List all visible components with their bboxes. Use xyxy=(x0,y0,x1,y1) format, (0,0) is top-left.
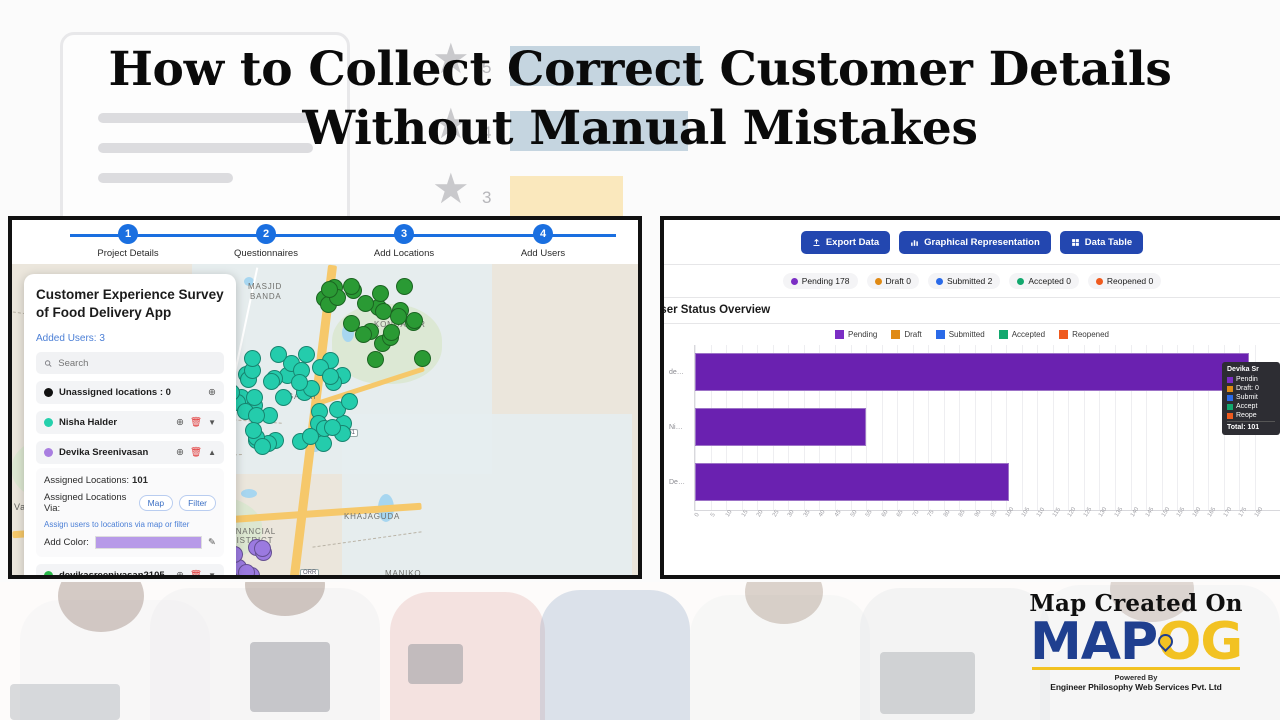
chart-bar-row: Ni… xyxy=(695,400,1280,455)
tooltip-label: Draft: 0 xyxy=(1236,385,1259,392)
chart-x-tick: 10 xyxy=(725,509,734,518)
added-users-label: Added Users: xyxy=(36,333,97,344)
data-table-button[interactable]: Data Table xyxy=(1060,231,1143,254)
user-color-dot xyxy=(44,571,53,579)
road-badge: ORR xyxy=(300,569,319,577)
chart-x-tick: 15 xyxy=(741,509,750,518)
map-place-label: Khanapur xyxy=(59,576,104,579)
mapog-logo: MAPOG xyxy=(1010,618,1262,667)
chart-plot-area: de… Ni… De… xyxy=(694,345,1280,510)
added-users-count: 3 xyxy=(99,333,105,344)
chart-legend-swatch xyxy=(936,330,945,339)
map-marker[interactable] xyxy=(245,422,262,439)
chart-legend-label: Pending xyxy=(848,330,877,339)
added-users: Added Users: 3 xyxy=(36,333,224,344)
chevron-down-icon[interactable]: ▼ xyxy=(208,419,216,427)
status-dot xyxy=(875,278,882,285)
stepper-label: Add Locations xyxy=(344,248,464,259)
map-place-label: KHAJAGUDA xyxy=(344,512,400,521)
map-marker[interactable] xyxy=(396,278,413,295)
stepper-step-questionnaires[interactable]: 2 Questionnaires xyxy=(206,224,326,259)
chart-x-tick: 95 xyxy=(990,509,999,518)
tooltip-row: Reope xyxy=(1227,412,1275,419)
decorative-line xyxy=(98,173,233,183)
unassigned-locations-row[interactable]: Unassigned locations : 0 ⊕ xyxy=(36,381,224,404)
stepper-step-add-users[interactable]: 4 Add Users xyxy=(483,224,603,259)
survey-sidebar-card: Customer Experience Survey of Food Deliv… xyxy=(24,274,236,579)
company-name: Engineer Philosophy Web Services Pvt. Lt… xyxy=(1010,682,1262,692)
row-actions[interactable]: ⊕ 🗑 ▼ xyxy=(176,571,216,579)
zoom-to-icon[interactable]: ⊕ xyxy=(176,418,184,428)
user-name: Devika Sreenivasan xyxy=(59,447,170,458)
pencil-icon[interactable]: ✎ xyxy=(208,538,216,548)
color-swatch[interactable] xyxy=(95,536,202,549)
map-marker[interactable] xyxy=(321,281,338,298)
zoom-to-icon[interactable]: ⊕ xyxy=(208,388,216,398)
chart-y-tick: Ni… xyxy=(669,424,683,431)
status-chip-label: Pending 178 xyxy=(802,276,850,286)
chart-legend-item[interactable]: Draft xyxy=(891,330,921,339)
map-marker[interactable] xyxy=(270,346,287,363)
chart-y-tick: de… xyxy=(669,369,684,376)
delete-icon[interactable]: 🗑 xyxy=(190,571,202,579)
chart-x-tick: 75 xyxy=(927,509,936,518)
row-actions[interactable]: ⊕ 🗑 ▲ xyxy=(176,448,216,458)
chart-x-tick: 65 xyxy=(896,509,905,518)
chart-legend-item[interactable]: Reopened xyxy=(1059,330,1109,339)
map-marker[interactable] xyxy=(414,350,431,367)
map-marker[interactable] xyxy=(254,540,271,557)
map-marker[interactable] xyxy=(238,564,255,579)
zoom-to-icon[interactable]: ⊕ xyxy=(176,571,184,579)
map-marker[interactable] xyxy=(280,576,297,579)
status-dot xyxy=(791,278,798,285)
status-chip-accepted[interactable]: Accepted 0 xyxy=(1009,273,1079,289)
assigned-via-line: Assigned Locations Via: Map Filter xyxy=(44,492,216,514)
powered-by-label: Powered By xyxy=(1010,673,1262,682)
user-color-dot xyxy=(44,448,53,457)
chart-x-tick: 55 xyxy=(865,509,874,518)
chart-legend-swatch xyxy=(999,330,1008,339)
chart-legend-swatch xyxy=(1059,330,1068,339)
chart-legend-label: Reopened xyxy=(1072,330,1109,339)
user-detail-panel: Assigned Locations: 101 Assigned Locatio… xyxy=(36,468,224,557)
export-data-button[interactable]: Export Data xyxy=(801,231,890,254)
status-dot xyxy=(936,278,943,285)
chart-legend[interactable]: PendingDraftSubmittedAcceptedReopened xyxy=(664,324,1280,339)
star-icon: ★ xyxy=(432,168,470,210)
tooltip-swatch xyxy=(1227,404,1233,410)
user-color-dot xyxy=(44,418,53,427)
tooltip-swatch xyxy=(1227,413,1233,419)
chart-x-tick: 60 xyxy=(881,509,890,518)
assign-via-filter-button[interactable]: Filter xyxy=(179,495,216,511)
row-actions[interactable]: ⊕ 🗑 ▼ xyxy=(176,418,216,428)
assigned-locations-value: 101 xyxy=(132,475,148,486)
chart-legend-label: Submitted xyxy=(949,330,985,339)
stepper-number: 4 xyxy=(533,224,553,244)
chart-tooltip: Devika Sr Pendin Draft: 0 Submit Accept … xyxy=(1222,362,1280,435)
map-place-label: MASJID xyxy=(248,282,282,291)
chart-screenshot-panel: Export Data Graphical Representation Dat… xyxy=(660,216,1280,579)
chevron-down-icon[interactable]: ▼ xyxy=(208,572,216,579)
status-dot xyxy=(1096,278,1103,285)
map-place-label: BANDA xyxy=(250,292,282,301)
laptop-device xyxy=(880,652,975,714)
stepper-label: Add Users xyxy=(483,248,603,259)
chart-x-tick: 30 xyxy=(787,509,796,518)
chart-heading: User Status Overview xyxy=(660,298,1280,323)
search-input[interactable] xyxy=(58,358,216,369)
chart-x-tick: 0 xyxy=(694,512,701,518)
tablet-device xyxy=(250,642,330,712)
status-dot xyxy=(1017,278,1024,285)
map-canvas[interactable]: MASJID BANDA KONDAPUR GACHI Gowlidoddi V… xyxy=(12,264,638,579)
chart-bar[interactable] xyxy=(695,463,1009,501)
survey-title: Customer Experience Survey of Food Deliv… xyxy=(36,286,224,322)
grid-icon xyxy=(1071,238,1080,247)
chart-bar-row: De… xyxy=(695,455,1280,510)
map-marker[interactable] xyxy=(390,308,407,325)
export-icon xyxy=(812,238,821,247)
map-marker[interactable] xyxy=(298,346,315,363)
graphical-representation-label: Graphical Representation xyxy=(924,237,1040,248)
tooltip-row: Draft: 0 xyxy=(1227,385,1275,392)
assigned-locations-line: Assigned Locations: 101 xyxy=(44,475,216,486)
map-marker[interactable] xyxy=(383,324,400,341)
chart-x-tick: 25 xyxy=(772,509,781,518)
tooltip-title: Devika Sr xyxy=(1227,366,1275,373)
status-chip-label: Draft 0 xyxy=(886,276,912,286)
star-rating-bar xyxy=(510,176,623,216)
graphical-representation-button[interactable]: Graphical Representation xyxy=(899,231,1051,254)
tooltip-row: Accept xyxy=(1227,403,1275,410)
headline-line-2: Without Manual Mistakes xyxy=(0,99,1280,158)
chart-toolbar: Export Data Graphical Representation Dat… xyxy=(664,220,1280,264)
status-chip-label: Reopened 0 xyxy=(1107,276,1153,286)
bar-chart: PendingDraftSubmittedAcceptedReopened de… xyxy=(664,324,1280,554)
brand-block: Map Created On MAPOG Powered By Engineer… xyxy=(1010,590,1262,692)
map-marker[interactable] xyxy=(302,428,319,445)
status-chip-pending[interactable]: Pending 178 xyxy=(783,273,858,289)
assign-via-map-button[interactable]: Map xyxy=(139,495,174,511)
user-row-devika-sreenivasan[interactable]: Devika Sreenivasan ⊕ 🗑 ▲ xyxy=(36,441,224,464)
chart-bar[interactable] xyxy=(695,408,866,446)
chart-x-tick: 85 xyxy=(958,509,967,518)
tooltip-swatch xyxy=(1227,377,1233,383)
status-chip-label: Accepted 0 xyxy=(1028,276,1071,286)
person-body xyxy=(540,590,690,720)
stepper-step-project-details[interactable]: 1 Project Details xyxy=(68,224,188,259)
search-field[interactable] xyxy=(36,352,224,374)
stepper-number: 2 xyxy=(256,224,276,244)
stepper-label: Project Details xyxy=(68,248,188,259)
chart-x-tick: 70 xyxy=(912,509,921,518)
star-rating-number: 3 xyxy=(482,188,491,208)
chart-bar-row: de… xyxy=(695,345,1280,400)
user-row-devikasreenivasan2105[interactable]: devikasreenivasan2105 ⊕ 🗑 ▼ xyxy=(36,564,224,579)
wizard-stepper: 1 Project Details 2 Questionnaires 3 Add… xyxy=(12,220,638,264)
user-row-nisha-halder[interactable]: Nisha Halder ⊕ 🗑 ▼ xyxy=(36,411,224,434)
status-chip-submitted[interactable]: Submitted 2 xyxy=(928,273,1000,289)
chart-legend-label: Accepted xyxy=(1012,330,1045,339)
laptop-device xyxy=(10,684,120,720)
chart-x-tick: 20 xyxy=(756,509,765,518)
search-icon xyxy=(44,359,52,368)
stepper-number: 1 xyxy=(118,224,138,244)
map-place-label: MANIKO xyxy=(385,569,421,578)
tooltip-label: Submit xyxy=(1236,394,1258,401)
chevron-up-icon[interactable]: ▲ xyxy=(208,449,216,457)
status-chip-draft[interactable]: Draft 0 xyxy=(867,273,920,289)
export-data-label: Export Data xyxy=(826,237,879,248)
assign-hint: Assign users to locations via map or fil… xyxy=(44,520,216,529)
tooltip-row: Submit xyxy=(1227,394,1275,401)
page-title: How to Collect Correct Customer Details … xyxy=(0,40,1280,158)
map-marker[interactable] xyxy=(157,577,174,579)
stepper-label: Questionnaires xyxy=(206,248,326,259)
tooltip-label: Reope xyxy=(1236,412,1257,419)
bar-chart-icon xyxy=(910,238,919,247)
map-marker[interactable] xyxy=(223,577,240,579)
add-color-label: Add Color: xyxy=(44,537,89,548)
map-marker[interactable] xyxy=(220,578,237,579)
chart-bar[interactable] xyxy=(695,353,1249,391)
delete-icon[interactable]: 🗑 xyxy=(190,418,202,428)
chart-legend-swatch xyxy=(891,330,900,339)
chart-x-tick: 40 xyxy=(818,509,827,518)
tooltip-swatch xyxy=(1227,386,1233,392)
add-color-row: Add Color: ✎ xyxy=(44,536,216,549)
stepper-step-add-locations[interactable]: 3 Add Locations xyxy=(344,224,464,259)
status-chip-row: Pending 178 Draft 0 Submitted 2 Accepted… xyxy=(664,265,1280,297)
chart-legend-label: Draft xyxy=(904,330,921,339)
chart-y-tick: De… xyxy=(669,479,685,486)
headline-line-1: How to Collect Correct Customer Details xyxy=(108,42,1171,97)
tooltip-total: Total: 101 xyxy=(1227,421,1275,431)
chart-x-tick: 80 xyxy=(943,509,952,518)
stepper-number: 3 xyxy=(394,224,414,244)
chart-x-tick: 45 xyxy=(834,509,843,518)
phone-device xyxy=(408,644,463,684)
status-dot xyxy=(44,388,53,397)
row-actions[interactable]: ⊕ xyxy=(208,388,216,398)
tooltip-label: Pendin xyxy=(1236,376,1258,383)
tooltip-swatch xyxy=(1227,395,1233,401)
assigned-locations-label: Assigned Locations: xyxy=(44,475,129,486)
chart-x-tick: 90 xyxy=(974,509,983,518)
status-chip-label: Submitted 2 xyxy=(947,276,992,286)
chart-legend-item[interactable]: Submitted xyxy=(936,330,985,339)
chart-x-tick: 5 xyxy=(710,512,717,518)
tooltip-row: Pendin xyxy=(1227,376,1275,383)
zoom-to-icon[interactable]: ⊕ xyxy=(176,448,184,458)
assigned-via-label: Assigned Locations Via: xyxy=(44,492,133,514)
status-chip-reopened[interactable]: Reopened 0 xyxy=(1088,273,1161,289)
user-name: devikasreenivasan2105 xyxy=(59,570,170,579)
chart-legend-swatch xyxy=(835,330,844,339)
chart-x-axis: 0510152025303540455055606570758085909510… xyxy=(694,510,1280,536)
logo-map-text: MAP xyxy=(1030,612,1157,672)
tooltip-label: Accept xyxy=(1236,403,1257,410)
map-screenshot-panel: 1 Project Details 2 Questionnaires 3 Add… xyxy=(8,216,642,579)
map-marker[interactable] xyxy=(357,295,374,312)
chart-legend-item[interactable]: Accepted xyxy=(999,330,1045,339)
chart-x-tick: 35 xyxy=(803,509,812,518)
chart-x-tick: 50 xyxy=(850,509,859,518)
delete-icon[interactable]: 🗑 xyxy=(190,448,202,458)
map-marker[interactable] xyxy=(367,351,384,368)
chart-legend-item[interactable]: Pending xyxy=(835,330,877,339)
data-table-label: Data Table xyxy=(1085,237,1132,248)
user-name: Nisha Halder xyxy=(59,417,170,428)
unassigned-locations-label: Unassigned locations : 0 xyxy=(59,387,202,398)
